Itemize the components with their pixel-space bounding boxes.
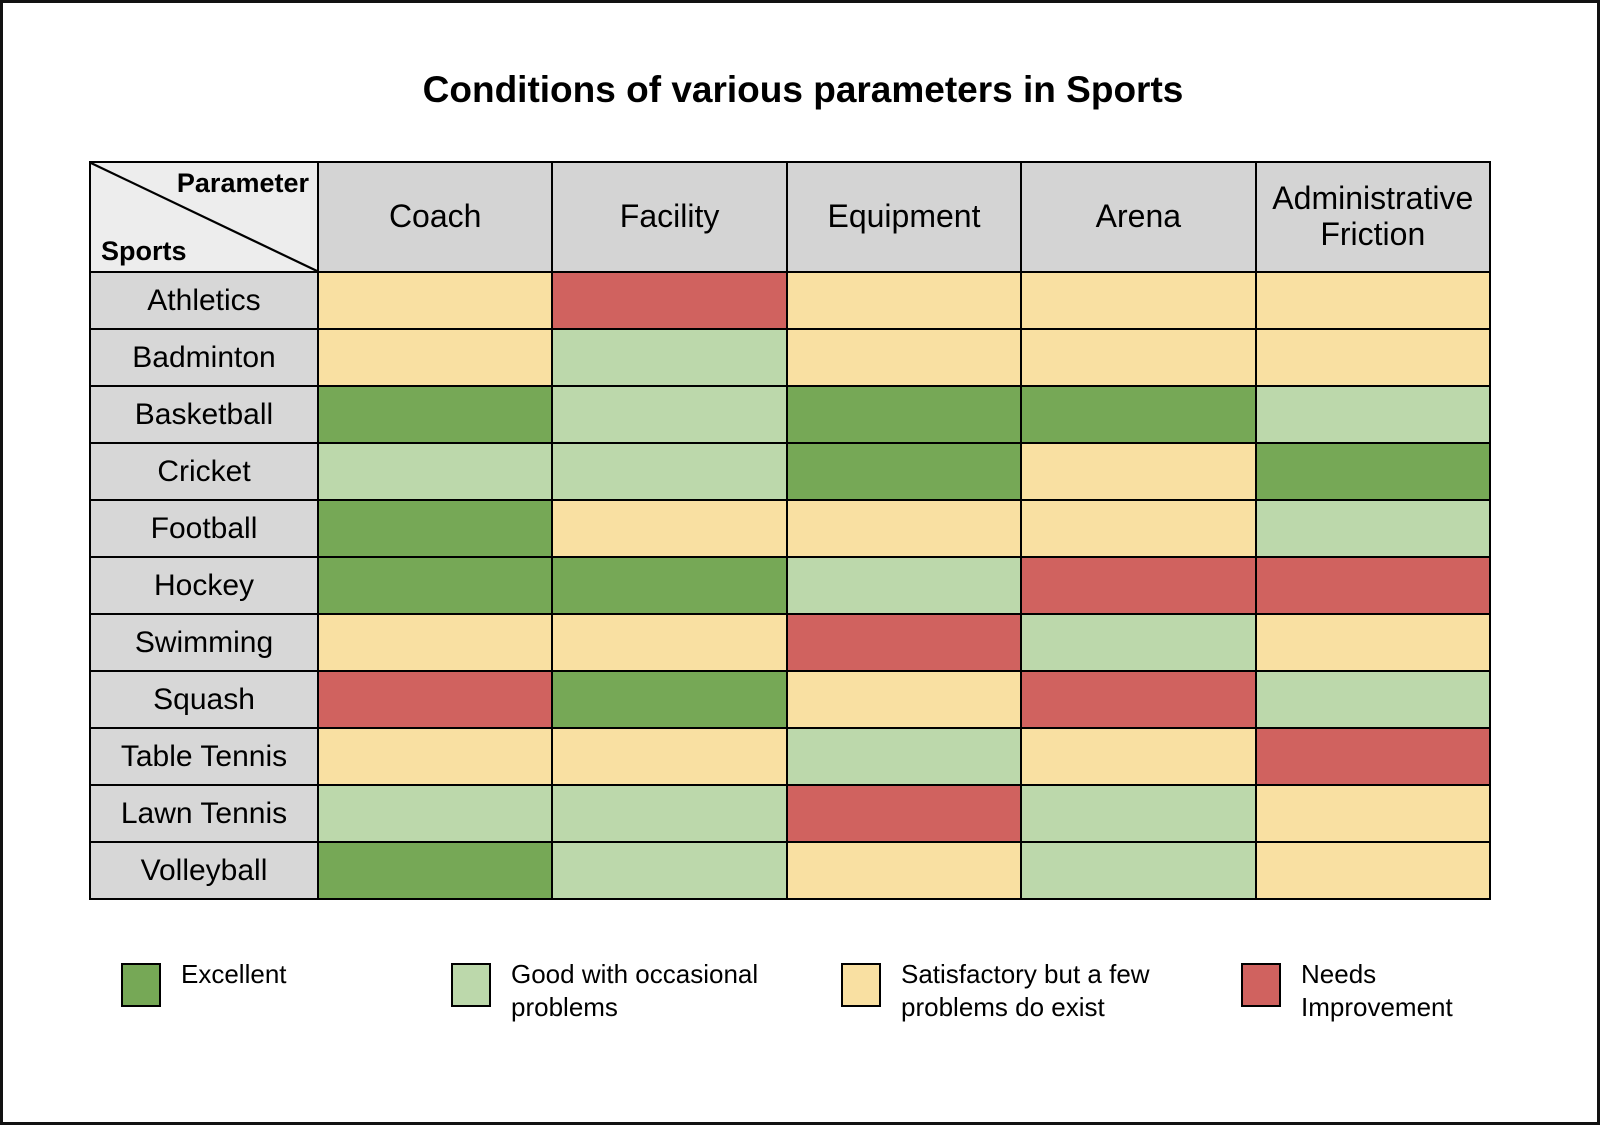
heatmap-cell — [787, 728, 1021, 785]
legend-label: Excellent — [181, 958, 287, 991]
conditions-heatmap-table: Parameter Sports Coach Facility Equipmen… — [89, 161, 1491, 900]
heatmap-cell — [1021, 386, 1255, 443]
heatmap-cell — [787, 671, 1021, 728]
heatmap-cell — [318, 500, 552, 557]
row-header-squash: Squash — [90, 671, 318, 728]
row-header-table-tennis: Table Tennis — [90, 728, 318, 785]
row-header-lawn-tennis: Lawn Tennis — [90, 785, 318, 842]
heatmap-cell — [552, 728, 786, 785]
heatmap-cell — [552, 842, 786, 899]
heatmap-cell — [1256, 329, 1490, 386]
row-header-cricket: Cricket — [90, 443, 318, 500]
heatmap-cell — [787, 443, 1021, 500]
row-header-hockey: Hockey — [90, 557, 318, 614]
header-row: Parameter Sports Coach Facility Equipmen… — [90, 162, 1490, 272]
heatmap-cell — [552, 614, 786, 671]
table-row: Volleyball — [90, 842, 1490, 899]
heatmap-cell — [1021, 842, 1255, 899]
heatmap-cell — [1256, 386, 1490, 443]
column-header-equipment: Equipment — [787, 162, 1021, 272]
row-header-athletics: Athletics — [90, 272, 318, 329]
heatmap-cell — [552, 500, 786, 557]
heatmap-cell — [1021, 614, 1255, 671]
legend-item: Satisfactory but a few problems do exist — [841, 958, 1241, 1025]
row-header-volleyball: Volleyball — [90, 842, 318, 899]
heatmap-cell — [1256, 272, 1490, 329]
heatmap-cell — [318, 614, 552, 671]
heatmap-cell — [787, 785, 1021, 842]
heatmap-cell — [1021, 557, 1255, 614]
table-body: AthleticsBadmintonBasketballCricketFootb… — [90, 272, 1490, 899]
heatmap-cell — [552, 386, 786, 443]
heatmap-cell — [787, 272, 1021, 329]
table-row: Lawn Tennis — [90, 785, 1490, 842]
legend-item: Good with occasional problems — [451, 958, 841, 1025]
table-row: Squash — [90, 671, 1490, 728]
legend-item: Needs Improvement — [1241, 958, 1491, 1025]
legend-swatch-satisfactory — [841, 963, 881, 1007]
legend-item: Excellent — [121, 958, 451, 1007]
table-row: Cricket — [90, 443, 1490, 500]
heatmap-cell — [1256, 500, 1490, 557]
table-header: Parameter Sports Coach Facility Equipmen… — [90, 162, 1490, 272]
table-row: Badminton — [90, 329, 1490, 386]
page-title: Conditions of various parameters in Spor… — [3, 69, 1600, 111]
table-row: Football — [90, 500, 1490, 557]
heatmap-cell — [1256, 671, 1490, 728]
heatmap-cell — [318, 329, 552, 386]
heatmap-cell — [318, 557, 552, 614]
heatmap-cell — [1021, 443, 1255, 500]
legend-label: Satisfactory but a few problems do exist — [901, 958, 1191, 1025]
legend-label: Good with occasional problems — [511, 958, 801, 1025]
heatmap-cell — [552, 557, 786, 614]
column-header-arena: Arena — [1021, 162, 1255, 272]
heatmap-cell — [318, 272, 552, 329]
heatmap-cell — [552, 329, 786, 386]
heatmap-cell — [1256, 557, 1490, 614]
heatmap-cell — [1021, 272, 1255, 329]
heatmap-cell — [318, 386, 552, 443]
legend-swatch-good — [451, 963, 491, 1007]
legend: ExcellentGood with occasional problemsSa… — [121, 958, 1491, 1025]
column-header-coach: Coach — [318, 162, 552, 272]
heatmap-cell — [318, 728, 552, 785]
table-row: Basketball — [90, 386, 1490, 443]
table-row: Swimming — [90, 614, 1490, 671]
column-header-administrative-friction: Administrative Friction — [1256, 162, 1490, 272]
heatmap-cell — [787, 842, 1021, 899]
heatmap-cell — [1256, 614, 1490, 671]
heatmap-cell — [1256, 728, 1490, 785]
table-row: Athletics — [90, 272, 1490, 329]
heatmap-cell — [1021, 500, 1255, 557]
heatmap-cell — [318, 785, 552, 842]
heatmap-cell — [787, 557, 1021, 614]
corner-axis-cell: Parameter Sports — [90, 162, 318, 272]
row-header-swimming: Swimming — [90, 614, 318, 671]
heatmap-cell — [552, 443, 786, 500]
heatmap-cell — [552, 272, 786, 329]
column-header-facility: Facility — [552, 162, 786, 272]
heatmap-cell — [1021, 785, 1255, 842]
heatmap-cell — [1021, 329, 1255, 386]
heatmap-cell — [787, 500, 1021, 557]
heatmap-cell — [1256, 443, 1490, 500]
heatmap-cell — [318, 443, 552, 500]
legend-swatch-needs — [1241, 963, 1281, 1007]
heatmap-cell — [1021, 728, 1255, 785]
heatmap-cell — [787, 329, 1021, 386]
heatmap-cell — [318, 842, 552, 899]
corner-parameter-label: Parameter — [177, 169, 309, 197]
heatmap-cell — [1256, 785, 1490, 842]
row-header-basketball: Basketball — [90, 386, 318, 443]
row-header-football: Football — [90, 500, 318, 557]
row-header-badminton: Badminton — [90, 329, 318, 386]
heatmap-cell — [1021, 671, 1255, 728]
heatmap-cell — [787, 386, 1021, 443]
chart-canvas: Conditions of various parameters in Spor… — [0, 0, 1600, 1125]
legend-label: Needs Improvement — [1301, 958, 1491, 1025]
heatmap-cell — [318, 671, 552, 728]
heatmap-cell — [552, 785, 786, 842]
heatmap-cell — [552, 671, 786, 728]
table-row: Hockey — [90, 557, 1490, 614]
table-row: Table Tennis — [90, 728, 1490, 785]
heatmap-cell — [1256, 842, 1490, 899]
legend-swatch-excellent — [121, 963, 161, 1007]
heatmap-cell — [787, 614, 1021, 671]
corner-sports-label: Sports — [101, 237, 187, 265]
